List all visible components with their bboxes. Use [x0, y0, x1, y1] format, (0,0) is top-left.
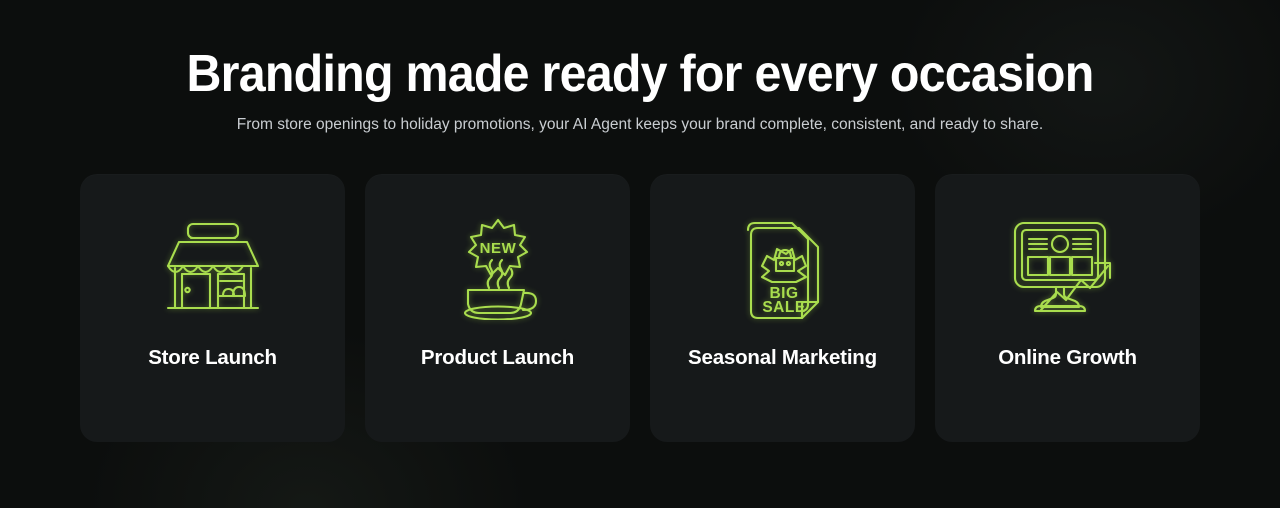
card-online-growth[interactable]: Online Growth	[935, 174, 1200, 442]
card-store-launch[interactable]: Store Launch	[80, 174, 345, 442]
big-sale-flyer-icon: BIG SALE	[723, 212, 843, 324]
card-seasonal-marketing[interactable]: BIG SALE Seasonal Marketing	[650, 174, 915, 442]
card-label: Store Launch	[148, 346, 277, 370]
promo-hero-section: Branding made ready for every occasion F…	[0, 0, 1280, 508]
monitor-growth-chart-icon	[1008, 212, 1128, 324]
svg-text:NEW: NEW	[479, 240, 516, 257]
card-label: Online Growth	[998, 346, 1137, 370]
page-title: Branding made ready for every occasion	[45, 0, 1235, 104]
storefront-icon	[153, 212, 273, 324]
card-product-launch[interactable]: NEW Product Launch	[365, 174, 630, 442]
hero-content: Branding made ready for every occasion F…	[0, 0, 1280, 442]
svg-text:SALE: SALE	[762, 299, 805, 316]
card-label: Seasonal Marketing	[688, 346, 877, 370]
card-label: Product Launch	[421, 346, 574, 370]
page-subtitle: From store openings to holiday promotion…	[0, 114, 1280, 136]
coffee-cup-new-badge-icon: NEW	[438, 212, 558, 324]
use-case-card-grid: Store Launch NEW Product La	[0, 174, 1280, 442]
